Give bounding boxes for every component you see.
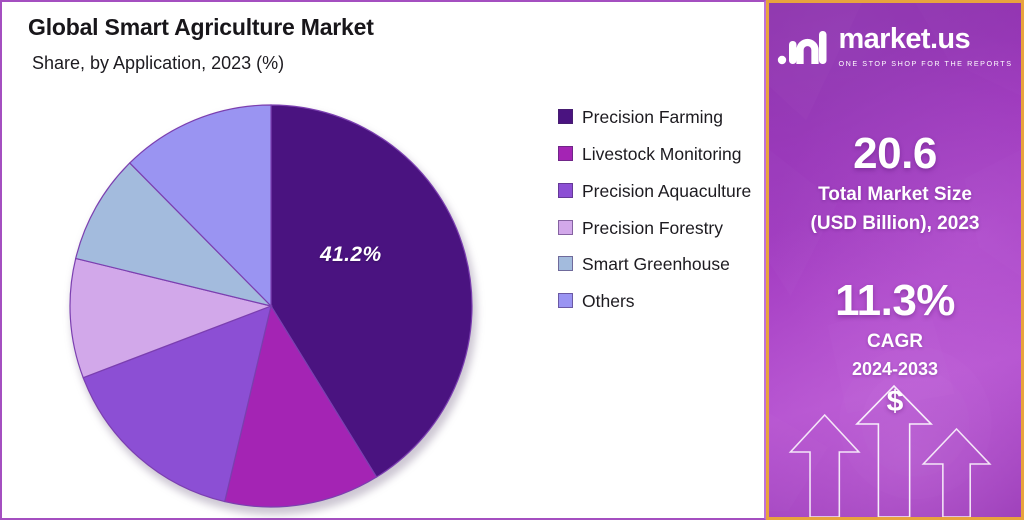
chart-header: Global Smart Agriculture Market Share, b… — [28, 14, 374, 74]
legend-color-swatch — [558, 109, 573, 124]
legend-item-label: Precision Forestry — [582, 216, 723, 241]
legend-item[interactable]: Livestock Monitoring — [558, 142, 763, 167]
growth-arrows-icon — [769, 382, 1021, 517]
market-size-value: 20.6 — [769, 131, 1021, 177]
market-size-stat: 20.6 Total Market Size (USD Billion), 20… — [769, 131, 1021, 236]
chart-title: Global Smart Agriculture Market — [28, 14, 374, 41]
brand-logo-text: market.us ONE STOP SHOP FOR THE REPORTS — [838, 25, 1012, 68]
legend-item-label: Smart Greenhouse — [582, 252, 730, 277]
legend-item[interactable]: Others — [558, 289, 763, 314]
legend-color-swatch — [558, 146, 573, 161]
market-size-caption-line2: (USD Billion), 2023 — [769, 212, 1021, 235]
chart-subtitle: Share, by Application, 2023 (%) — [32, 53, 374, 74]
legend-color-swatch — [558, 183, 573, 198]
cagr-caption-line1: CAGR — [769, 330, 1021, 353]
legend-item[interactable]: Precision Aquaculture — [558, 179, 763, 204]
market-size-caption-line1: Total Market Size — [769, 183, 1021, 206]
brand-stats-panel: market.us ONE STOP SHOP FOR THE REPORTS … — [766, 0, 1024, 520]
pie-slice-label-precision-farming: 41.2% — [320, 243, 382, 267]
legend-item[interactable]: Precision Forestry — [558, 216, 763, 241]
pie-chart: 41.2% — [68, 103, 474, 509]
pie-chart-svg — [68, 103, 474, 509]
infographic-page: Global Smart Agriculture Market Share, b… — [0, 0, 1024, 520]
legend-item-label: Others — [582, 289, 635, 314]
brand-logo: market.us ONE STOP SHOP FOR THE REPORTS — [769, 25, 1021, 68]
brand-name: market.us — [838, 25, 970, 54]
cagr-value: 11.3% — [769, 278, 1021, 324]
legend-item-label: Precision Farming — [582, 105, 723, 130]
legend-color-swatch — [558, 293, 573, 308]
legend-item[interactable]: Smart Greenhouse — [558, 252, 763, 277]
legend-item-label: Livestock Monitoring — [582, 142, 742, 167]
legend-color-swatch — [558, 256, 573, 271]
cagr-stat: 11.3% CAGR 2024-2033 — [769, 278, 1021, 381]
chart-legend: Precision FarmingLivestock MonitoringPre… — [558, 105, 763, 326]
chart-panel: Global Smart Agriculture Market Share, b… — [0, 0, 766, 520]
market-us-bars-icon — [777, 27, 829, 67]
cagr-caption-line2: 2024-2033 — [769, 359, 1021, 381]
legend-color-swatch — [558, 220, 573, 235]
legend-item-label: Precision Aquaculture — [582, 179, 751, 204]
legend-item[interactable]: Precision Farming — [558, 105, 763, 130]
brand-tagline: ONE STOP SHOP FOR THE REPORTS — [838, 59, 1012, 68]
